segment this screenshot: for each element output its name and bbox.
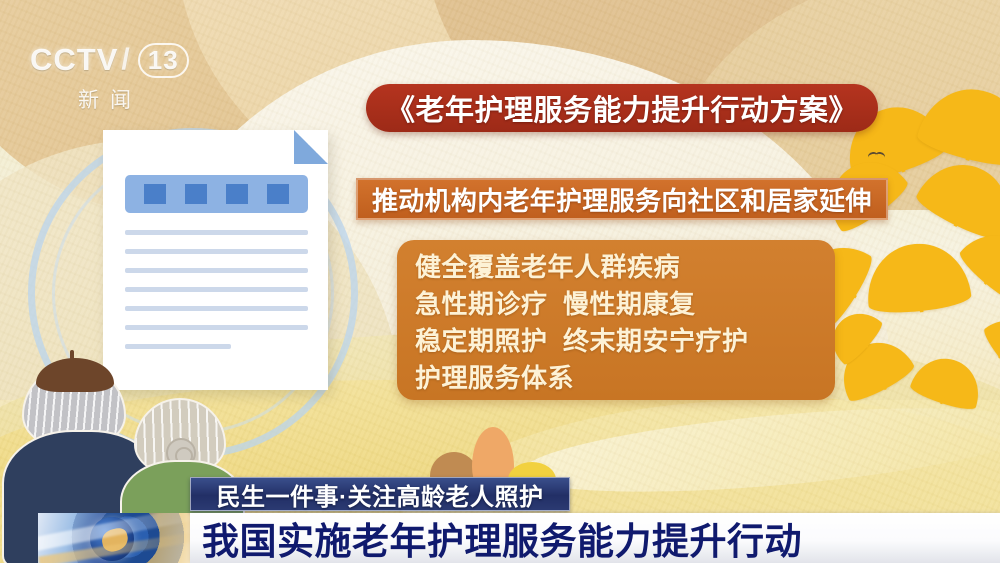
document-fold-corner — [294, 130, 328, 164]
content-line: 稳定期照护 终末期安宁疗护 — [415, 323, 835, 360]
document-line — [125, 268, 308, 273]
cctv-logo: CCTV / 13 新闻 — [30, 42, 190, 114]
news-globe-graphic — [38, 513, 193, 563]
content-line: 健全覆盖老年人群疾病 — [415, 249, 835, 286]
lower-third-topic-text: 民生一件事·关注高龄老人照护 — [217, 477, 544, 512]
lower-third-headline-text: 我国实施老年护理服务能力提升行动 — [202, 511, 802, 563]
policy-title-pill: 《老年护理服务能力提升行动方案》 — [366, 84, 878, 132]
content-line: 护理服务体系 — [415, 360, 835, 397]
cctv-channel-label: 新闻 — [30, 84, 190, 114]
broadcast-screenshot: CCTV / 13 新闻 《老年护理服务能力提升行动方案》 推动机构内老年护理服… — [0, 0, 1000, 563]
policy-subtitle-text: 推动机构内老年护理服务向社区和居家延伸 — [372, 181, 872, 218]
document-header-bar — [125, 175, 308, 213]
cctv-wordmark: CCTV — [30, 42, 118, 78]
document-header-block — [226, 184, 248, 204]
policy-content-box: 健全覆盖老年人群疾病 急性期诊疗 慢性期康复 稳定期照护 终末期安宁疗护 护理服… — [397, 240, 835, 400]
cctv-channel-number: 13 — [138, 43, 189, 78]
flying-bird-icon — [868, 152, 886, 161]
brown-cap-icon — [36, 358, 114, 392]
cap-knob — [70, 350, 74, 360]
lower-third-topic-bar: 民生一件事·关注高龄老人照护 — [190, 477, 570, 511]
lower-third-headline-bar: 我国实施老年护理服务能力提升行动 — [190, 513, 1000, 563]
document-line — [125, 344, 231, 349]
document-header-block — [185, 184, 207, 204]
cctv-slash: / — [121, 43, 130, 77]
document-line — [125, 325, 308, 330]
document-line — [125, 306, 308, 311]
ginkgo-tree — [820, 95, 1000, 425]
policy-title-text: 《老年护理服务能力提升行动方案》 — [386, 87, 858, 129]
document-header-block — [144, 184, 166, 204]
document-line — [125, 287, 308, 292]
document-line — [125, 249, 308, 254]
policy-subtitle-bar: 推动机构内老年护理服务向社区和居家延伸 — [356, 178, 888, 220]
document-line — [125, 230, 308, 235]
document-text-lines — [125, 230, 308, 363]
policy-document-illustration — [103, 130, 328, 390]
document-header-block — [267, 184, 289, 204]
content-line: 急性期诊疗 慢性期康复 — [415, 286, 835, 323]
cctv-logo-top: CCTV / 13 — [30, 42, 190, 78]
